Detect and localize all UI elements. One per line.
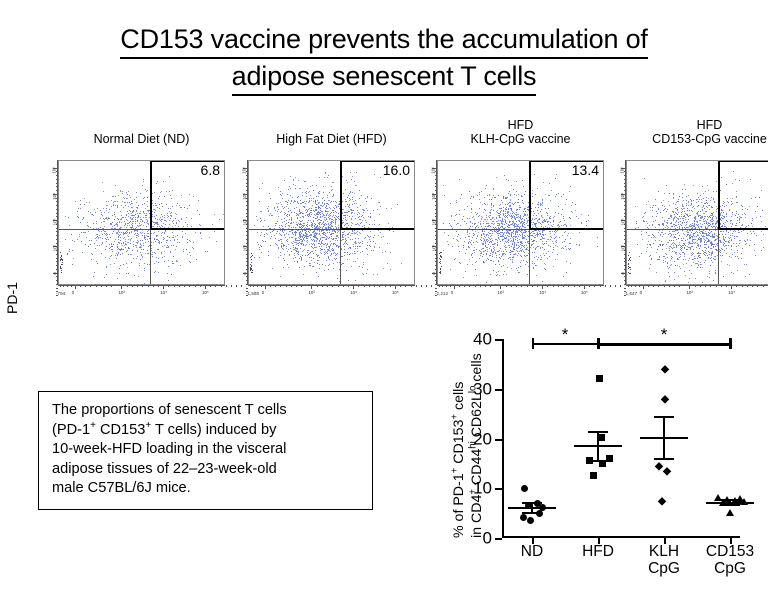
flow-event-dot xyxy=(511,209,512,210)
flow-event-dot xyxy=(728,232,729,233)
flow-event-dot xyxy=(555,259,556,260)
flow-event-dot xyxy=(677,214,678,215)
flow-event-dot xyxy=(315,235,316,236)
flow-event-dot xyxy=(140,219,141,220)
flow-event-dot xyxy=(706,197,707,198)
flow-event-dot xyxy=(174,239,175,240)
flow-event-dot xyxy=(440,269,441,270)
flow-event-dot xyxy=(662,249,663,250)
flow-event-dot xyxy=(486,282,487,283)
flow-event-dot xyxy=(113,244,114,245)
flow-event-dot xyxy=(536,265,537,266)
flow-event-dot xyxy=(113,204,114,205)
flow-event-dot xyxy=(688,202,689,203)
flow-event-dot xyxy=(661,202,662,203)
flow-event-dot xyxy=(348,233,349,234)
flow-event-dot xyxy=(112,233,113,234)
flow-event-dot xyxy=(335,255,336,256)
flow-event-dot xyxy=(498,261,499,262)
flow-event-dot xyxy=(120,249,121,250)
flow-event-dot xyxy=(299,224,300,225)
flow-event-dot xyxy=(293,227,294,228)
flow-event-dot xyxy=(485,250,486,251)
flow-event-dot xyxy=(500,248,501,249)
flow-event-dot xyxy=(439,258,440,259)
flow-event-dot xyxy=(127,267,128,268)
flow-event-dot xyxy=(488,235,489,236)
flow-event-dot xyxy=(665,280,666,281)
flow-event-dot xyxy=(479,192,480,193)
flow-event-dot xyxy=(531,239,532,240)
flow-event-dot xyxy=(87,222,88,223)
flow-event-dot xyxy=(290,210,291,211)
flow-event-dot xyxy=(322,243,323,244)
flow-event-dot xyxy=(307,226,308,227)
flow-event-dot xyxy=(274,208,275,209)
flow-event-dot xyxy=(327,253,328,254)
flow-event-dot xyxy=(535,237,536,238)
flow-event-dot xyxy=(318,206,319,207)
flow-event-dot xyxy=(295,242,296,243)
flow-event-dot xyxy=(497,225,498,226)
flow-event-dot xyxy=(440,263,441,264)
flow-event-dot xyxy=(570,238,571,239)
flow-event-dot xyxy=(131,262,132,263)
flow-event-dot xyxy=(363,262,364,263)
flow-event-dot xyxy=(508,233,509,234)
flow-event-dot xyxy=(502,240,503,241)
flow-event-dot xyxy=(722,234,723,235)
flow-event-dot xyxy=(288,208,289,209)
flow-event-dot xyxy=(127,242,128,243)
flow-event-dot xyxy=(125,205,126,206)
flow-event-dot xyxy=(116,253,117,254)
flow-event-dot xyxy=(491,251,492,252)
flow-event-dot xyxy=(517,217,518,218)
flow-event-dot xyxy=(294,208,295,209)
flow-event-dot xyxy=(350,235,351,236)
flow-event-dot xyxy=(698,224,699,225)
flow-y-tick-label: 0 xyxy=(242,272,247,274)
flow-event-dot xyxy=(658,191,659,192)
flow-event-dot xyxy=(78,208,79,209)
flow-event-dot xyxy=(322,240,323,241)
flow-event-dot xyxy=(738,230,739,231)
flow-event-dot xyxy=(680,218,681,219)
flow-event-dot xyxy=(490,236,491,237)
flow-event-dot xyxy=(290,203,291,204)
flow-event-dot xyxy=(712,213,713,214)
flow-event-dot xyxy=(278,187,279,188)
flow-panel-2: 10⁵10⁴10³10²016.0010³10⁴10⁵-1,598 xyxy=(248,160,415,301)
flow-event-dot xyxy=(280,234,281,235)
flow-event-dot xyxy=(733,273,734,274)
flow-event-dot xyxy=(383,236,384,237)
flow-event-dot xyxy=(542,247,543,248)
flow-event-dot xyxy=(295,185,296,186)
flow-event-dot xyxy=(168,260,169,261)
flow-event-dot xyxy=(97,234,98,235)
flow-event-dot xyxy=(686,200,687,201)
flow-event-dot xyxy=(498,220,499,221)
flow-event-dot xyxy=(556,242,557,243)
flow-event-dot xyxy=(514,249,515,250)
flow-event-dot xyxy=(293,222,294,223)
flow-event-dot xyxy=(636,221,637,222)
flow-event-dot xyxy=(725,237,726,238)
flow-event-dot xyxy=(268,226,269,227)
flow-event-dot xyxy=(698,256,699,257)
flow-event-dot xyxy=(138,241,139,242)
flow-event-dot xyxy=(132,203,133,204)
flow-event-dot xyxy=(177,235,178,236)
flow-event-dot xyxy=(78,217,79,218)
flow-panel-1: 10⁵10⁴10³10²06.8010³10⁴10⁵-794 xyxy=(58,160,225,301)
flow-event-dot xyxy=(466,249,467,250)
flow-event-dot xyxy=(111,206,112,207)
flow-event-dot xyxy=(472,257,473,258)
flow-event-dot xyxy=(144,197,145,198)
flow-event-dot xyxy=(335,240,336,241)
flow-event-dot xyxy=(655,199,656,200)
flow-event-dot xyxy=(499,257,500,258)
flow-event-dot xyxy=(303,234,304,235)
flow-event-dot xyxy=(474,219,475,220)
flow-event-dot xyxy=(134,215,135,216)
flow-event-dot xyxy=(336,254,337,255)
flow-event-dot xyxy=(345,242,346,243)
flow-event-dot xyxy=(130,240,131,241)
flow-event-dot xyxy=(509,227,510,228)
flow-event-dot xyxy=(144,270,145,271)
flow-event-dot xyxy=(488,232,489,233)
flow-panel-x-axis-2: 010³10⁴10⁵-1,598 xyxy=(248,285,415,299)
flow-event-dot xyxy=(95,212,96,213)
flow-scatter-area-1: 6.8 xyxy=(58,160,225,285)
flow-event-dot xyxy=(500,236,501,237)
flow-event-dot xyxy=(154,272,155,273)
flow-event-dot xyxy=(306,261,307,262)
flow-event-dot xyxy=(86,237,87,238)
flow-event-dot xyxy=(319,241,320,242)
flow-event-dot xyxy=(275,225,276,226)
flow-event-dot xyxy=(691,210,692,211)
flow-event-dot xyxy=(287,241,288,242)
flow-event-dot xyxy=(492,218,493,219)
flow-event-dot xyxy=(295,188,296,189)
flow-event-dot xyxy=(135,221,136,222)
flow-event-dot xyxy=(492,197,493,198)
flow-event-dot xyxy=(286,248,287,249)
flow-event-dot xyxy=(479,215,480,216)
flow-event-dot xyxy=(505,254,506,255)
flow-event-dot xyxy=(144,233,145,234)
flow-event-dot xyxy=(331,186,332,187)
flow-event-dot xyxy=(507,235,508,236)
flow-event-dot xyxy=(358,238,359,239)
flow-event-dot xyxy=(525,227,526,228)
flow-event-dot xyxy=(296,240,297,241)
flow-event-dot xyxy=(542,241,543,242)
flow-event-dot xyxy=(471,244,472,245)
flow-event-dot xyxy=(260,221,261,222)
flow-event-dot xyxy=(291,227,292,228)
flow-event-dot xyxy=(756,235,757,236)
flow-event-dot xyxy=(342,256,343,257)
flow-event-dot xyxy=(259,188,260,189)
flow-event-dot xyxy=(311,226,312,227)
flow-event-dot xyxy=(667,262,668,263)
flow-event-dot xyxy=(556,240,557,241)
flow-event-dot xyxy=(701,216,702,217)
flow-event-dot xyxy=(487,195,488,196)
flow-event-dot xyxy=(107,219,108,220)
flow-event-dot xyxy=(284,218,285,219)
flow-event-dot xyxy=(484,231,485,232)
flow-event-dot xyxy=(520,248,521,249)
flow-event-dot xyxy=(649,235,650,236)
flow-event-dot xyxy=(543,238,544,239)
flow-event-dot xyxy=(687,208,688,209)
flow-event-dot xyxy=(644,178,645,179)
flow-event-dot xyxy=(533,240,534,241)
flow-event-dot xyxy=(250,268,251,269)
flow-event-dot xyxy=(381,237,382,238)
flow-event-dot xyxy=(291,200,292,201)
flow-event-dot xyxy=(352,239,353,240)
flow-event-dot xyxy=(316,240,317,241)
flow-event-dot xyxy=(659,230,660,231)
flow-event-dot xyxy=(278,240,279,241)
flow-event-dot xyxy=(195,232,196,233)
flow-event-dot xyxy=(61,272,62,273)
flow-event-dot xyxy=(303,213,304,214)
flow-event-dot xyxy=(122,253,123,254)
flow-event-dot xyxy=(500,258,501,259)
flow-event-dot xyxy=(125,247,126,248)
flow-event-dot xyxy=(328,250,329,251)
flow-event-dot xyxy=(143,225,144,226)
flow-event-dot xyxy=(522,225,523,226)
flow-event-dot xyxy=(330,202,331,203)
flow-event-dot xyxy=(503,254,504,255)
flow-event-dot xyxy=(663,225,664,226)
flow-event-dot xyxy=(658,209,659,210)
flow-event-dot xyxy=(288,189,289,190)
flow-event-dot xyxy=(545,234,546,235)
flow-event-dot xyxy=(532,261,533,262)
flow-event-dot xyxy=(527,262,528,263)
flow-event-dot xyxy=(143,211,144,212)
flow-event-dot xyxy=(147,264,148,265)
flow-event-dot xyxy=(327,208,328,209)
flow-event-dot xyxy=(260,235,261,236)
flow-event-dot xyxy=(488,237,489,238)
flow-event-dot xyxy=(334,231,335,232)
flow-event-dot xyxy=(684,271,685,272)
flow-event-dot xyxy=(276,244,277,245)
flow-event-dot xyxy=(352,253,353,254)
flow-event-dot xyxy=(646,221,647,222)
flow-event-dot xyxy=(671,264,672,265)
flow-event-dot xyxy=(341,240,342,241)
flow-event-dot xyxy=(501,256,502,257)
flow-event-dot xyxy=(516,210,517,211)
flow-event-dot xyxy=(146,215,147,216)
flow-event-dot xyxy=(497,242,498,243)
flow-event-dot xyxy=(706,206,707,207)
flow-event-dot xyxy=(310,195,311,196)
flow-event-dot xyxy=(327,203,328,204)
flow-event-dot xyxy=(474,250,475,251)
flow-event-dot xyxy=(313,266,314,267)
flow-event-dot xyxy=(498,195,499,196)
flow-event-dot xyxy=(510,252,511,253)
flow-event-dot xyxy=(658,246,659,247)
flow-event-dot xyxy=(505,241,506,242)
flow-event-dot xyxy=(450,225,451,226)
flow-event-dot xyxy=(519,234,520,235)
flow-event-dot xyxy=(532,235,533,236)
flow-event-dot xyxy=(493,261,494,262)
flow-event-dot xyxy=(295,257,296,258)
flow-event-dot xyxy=(140,213,141,214)
flow-event-dot xyxy=(316,272,317,273)
flow-event-dot xyxy=(80,204,81,205)
flow-event-dot xyxy=(114,241,115,242)
flow-event-dot xyxy=(511,232,512,233)
flow-event-dot xyxy=(89,202,90,203)
flow-event-dot xyxy=(348,280,349,281)
flow-event-dot xyxy=(505,221,506,222)
flow-event-dot xyxy=(516,214,517,215)
flow-event-dot xyxy=(463,216,464,217)
flow-event-dot xyxy=(487,249,488,250)
flow-event-dot xyxy=(125,202,126,203)
flow-event-dot xyxy=(694,258,695,259)
flow-event-dot xyxy=(512,259,513,260)
flow-event-dot xyxy=(482,256,483,257)
flow-event-dot xyxy=(510,202,511,203)
flow-event-dot xyxy=(65,239,66,240)
flow-event-dot xyxy=(86,202,87,203)
flow-event-dot xyxy=(460,198,461,199)
flow-event-dot xyxy=(679,242,680,243)
flow-event-dot xyxy=(508,193,509,194)
flow-gate-value-3: 13.4 xyxy=(572,162,599,178)
flow-event-dot xyxy=(670,265,671,266)
flow-event-dot xyxy=(465,271,466,272)
flow-event-dot xyxy=(547,239,548,240)
flow-event-dot xyxy=(684,256,685,257)
flow-event-dot xyxy=(513,236,514,237)
flow-event-dot xyxy=(260,245,261,246)
flow-event-dot xyxy=(542,281,543,282)
flow-event-dot xyxy=(685,217,686,218)
flow-event-dot xyxy=(567,235,568,236)
flow-event-dot xyxy=(123,238,124,239)
flow-event-dot xyxy=(251,272,252,273)
flow-event-dot xyxy=(506,198,507,199)
flow-event-dot xyxy=(284,221,285,222)
flow-event-dot xyxy=(570,263,571,264)
flow-event-dot xyxy=(332,233,333,234)
flow-event-dot xyxy=(734,252,735,253)
flow-event-dot xyxy=(464,209,465,210)
flow-event-dot xyxy=(354,253,355,254)
flow-event-dot xyxy=(733,243,734,244)
flow-event-dot xyxy=(728,241,729,242)
flow-event-dot xyxy=(715,240,716,241)
flow-event-dot xyxy=(173,237,174,238)
flow-event-dot xyxy=(500,232,501,233)
flow-event-dot xyxy=(511,185,512,186)
flow-event-dot xyxy=(171,245,172,246)
flow-event-dot xyxy=(301,257,302,258)
flow-event-dot xyxy=(527,247,528,248)
flow-event-dot xyxy=(331,221,332,222)
flow-event-dot xyxy=(187,239,188,240)
flow-scatter-area-2: 16.0 xyxy=(248,160,415,285)
flow-event-dot xyxy=(525,191,526,192)
flow-event-dot xyxy=(129,248,130,249)
flow-event-dot xyxy=(513,251,514,252)
flow-x-min-label-1: -794 xyxy=(56,291,65,296)
flow-event-dot xyxy=(676,225,677,226)
flow-event-dot xyxy=(104,231,105,232)
flow-event-dot xyxy=(641,234,642,235)
flow-event-dot xyxy=(147,197,148,198)
flow-event-dot xyxy=(110,264,111,265)
flow-event-dot xyxy=(69,225,70,226)
flow-event-dot xyxy=(479,258,480,259)
flow-x-tick-label: 0 xyxy=(72,290,74,295)
flow-event-dot xyxy=(750,240,751,241)
flow-event-dot xyxy=(548,251,549,252)
flow-event-dot xyxy=(282,193,283,194)
flow-event-dot xyxy=(333,230,334,231)
flow-event-dot xyxy=(653,221,654,222)
flow-event-dot xyxy=(526,231,527,232)
flow-event-dot xyxy=(158,262,159,263)
flow-event-dot xyxy=(701,231,702,232)
flow-event-dot xyxy=(295,233,296,234)
flow-event-dot xyxy=(704,213,705,214)
flow-event-dot xyxy=(138,217,139,218)
flow-event-dot xyxy=(316,185,317,186)
flow-event-dot xyxy=(327,251,328,252)
flow-event-dot xyxy=(533,233,534,234)
flow-event-dot xyxy=(137,225,138,226)
flow-event-dot xyxy=(537,259,538,260)
flow-event-dot xyxy=(710,265,711,266)
flow-event-dot xyxy=(109,258,110,259)
flow-event-dot xyxy=(278,209,279,210)
flow-event-dot xyxy=(470,226,471,227)
flow-event-dot xyxy=(737,236,738,237)
flow-event-dot xyxy=(287,264,288,265)
flow-event-dot xyxy=(714,256,715,257)
flow-event-dot xyxy=(315,201,316,202)
flow-event-dot xyxy=(525,242,526,243)
flow-event-dot xyxy=(315,224,316,225)
flow-event-dot xyxy=(517,225,518,226)
flow-event-dot xyxy=(80,222,81,223)
flow-event-dot xyxy=(493,252,494,253)
flow-event-dot xyxy=(697,267,698,268)
flow-event-dot xyxy=(299,209,300,210)
flow-event-dot xyxy=(679,253,680,254)
